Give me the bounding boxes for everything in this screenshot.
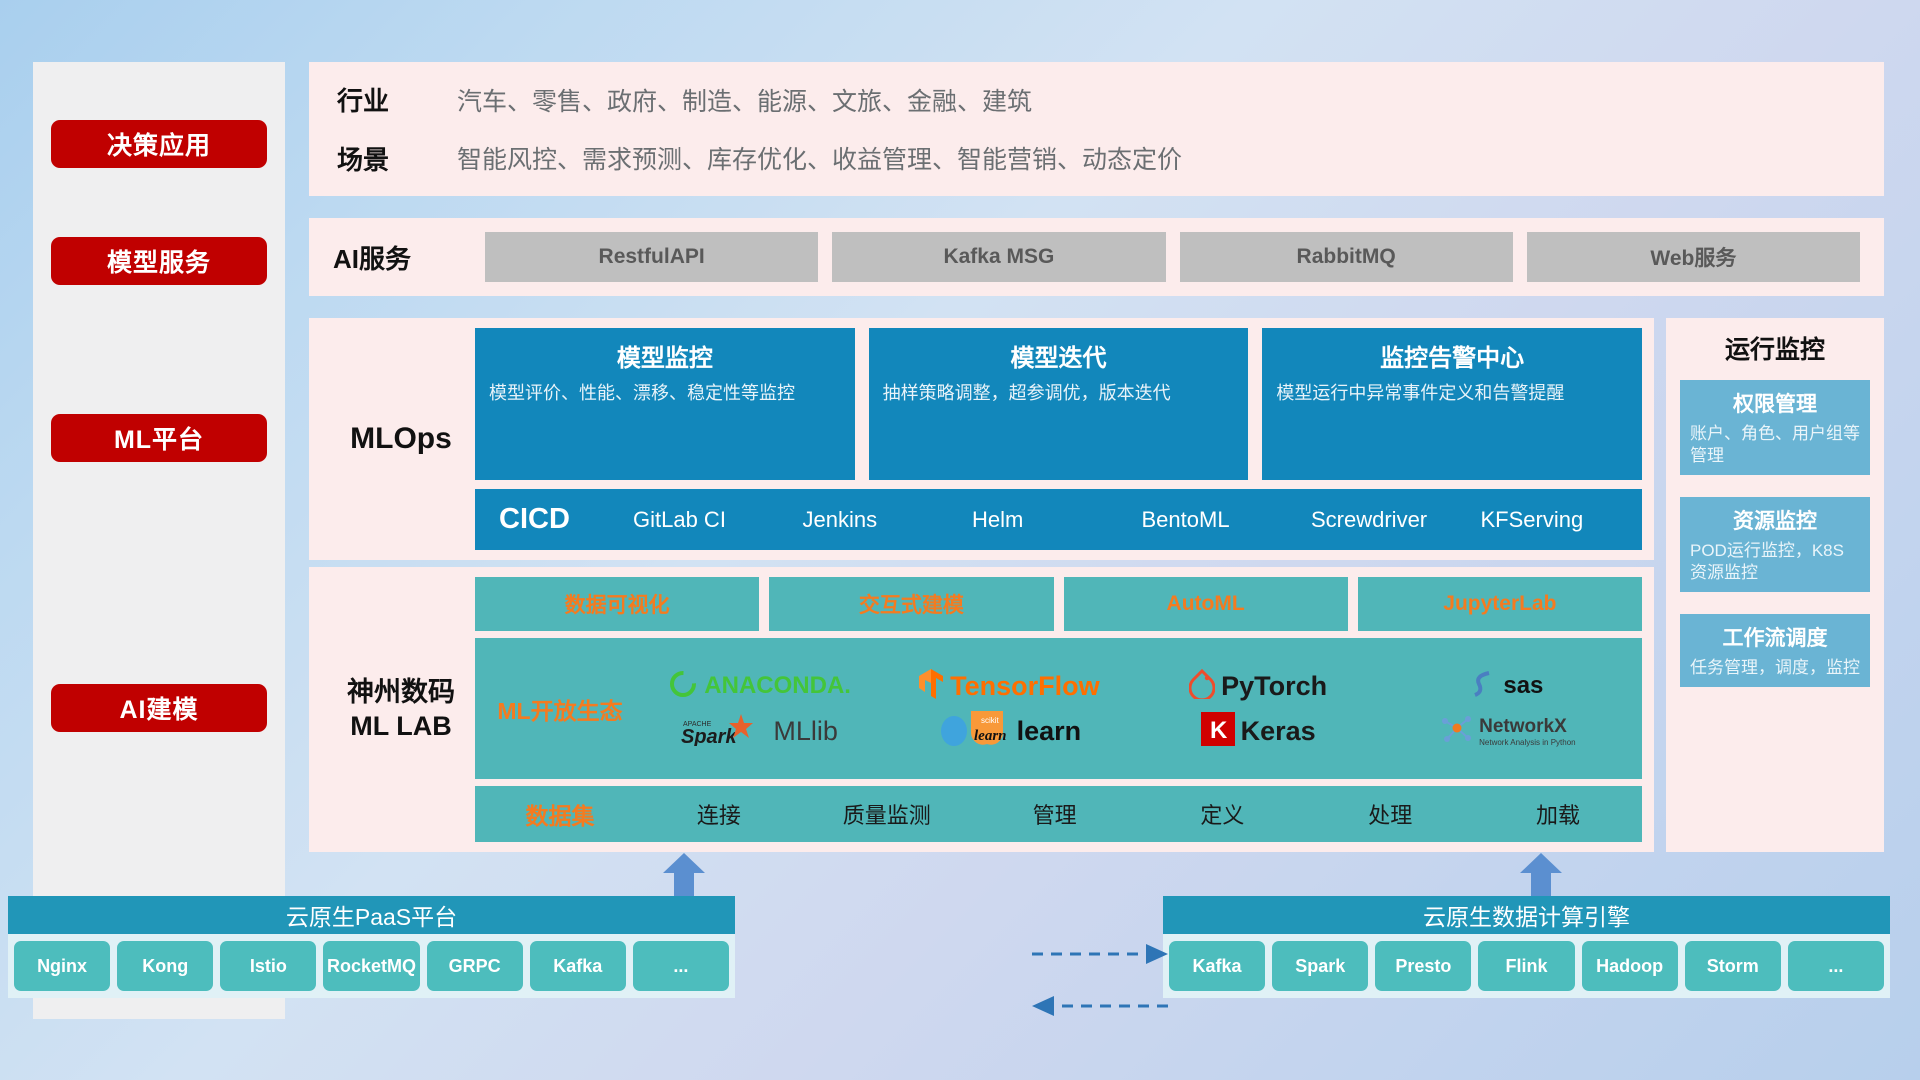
svg-text:Spark: Spark [681,726,737,746]
sas-logo-glyph [1471,669,1497,704]
rail-button-1[interactable]: 模型服务 [51,237,267,285]
cicd-item-5[interactable]: KFServing [1473,505,1643,535]
cloud-paas-chip-list: NginxKongIstioRocketMQGRPCKafka... [8,934,735,998]
networkx-logo: NetworkXNetwork Analysis in Python [1439,713,1576,750]
ml-ecosystem-logos: ANACONDA.TensorFlowPyTorchsasAPACHESpark… [635,664,1632,754]
compute-chip-4[interactable]: Hadoop [1582,941,1678,991]
networkx-logo-tagline: Network Analysis in Python [1479,738,1576,747]
monitoring-card-title: 权限管理 [1690,388,1860,418]
scenario-value: 智能风控、需求预测、库存优化、收益管理、智能营销、动态定价 [457,140,1182,176]
paas-chip-6[interactable]: ... [633,941,729,991]
svg-text:learn: learn [974,728,1007,744]
svg-text:K: K [1210,717,1228,744]
monitoring-card-title: 工作流调度 [1690,622,1860,652]
industry-label: 行业 [337,81,457,118]
ai-service-box-0[interactable]: RestfulAPI [485,232,818,282]
spark-mllib-logo-wordmark: MLlib [773,716,838,746]
ai-service-box-1[interactable]: Kafka MSG [832,232,1165,282]
cloud-paas-block: 云原生PaaS平台 NginxKongIstioRocketMQGRPCKafk… [8,896,735,998]
cicd-item-3[interactable]: BentoML [1134,505,1304,535]
mlops-card-0[interactable]: 模型监控模型评价、性能、漂移、稳定性等监控 [475,328,855,480]
compute-chip-6[interactable]: ... [1788,941,1884,991]
ml-lab-title-line2: ML LAB [327,710,475,744]
tensorflow-logo: TensorFlow [918,668,1100,705]
cicd-item-list: GitLab CIJenkinsHelmBentoMLScrewdriverKF… [625,505,1642,535]
sas-logo: sas [1471,669,1543,704]
dataset-item-list: 连接质量监测管理定义处理加载 [635,798,1642,830]
monitoring-title: 运行监控 [1680,330,1870,366]
cicd-item-1[interactable]: Jenkins [795,505,965,535]
paas-chip-2[interactable]: Istio [220,941,316,991]
ml-ecosystem-band: ML开放生态 ANACONDA.TensorFlowPyTorchsasAPAC… [475,638,1642,779]
rail-button-label: AI建模 [119,690,198,726]
dataset-item-0[interactable]: 连接 [635,798,803,830]
mlops-content: 模型监控模型评价、性能、漂移、稳定性等监控模型迭代抽样策略调整，超参调优，版本迭… [475,328,1642,550]
modelling-tool-2[interactable]: AutoML [1064,577,1348,631]
paas-chip-5[interactable]: Kafka [530,941,626,991]
mlops-card-1[interactable]: 模型迭代抽样策略调整，超参调优，版本迭代 [869,328,1249,480]
mlops-card-list: 模型监控模型评价、性能、漂移、稳定性等监控模型迭代抽样策略调整，超参调优，版本迭… [475,328,1642,480]
ai-modelling-content: 数据可视化交互式建模AutoMLJupyterLab ML开放生态 ANACON… [475,577,1642,842]
scenario-label: 场景 [337,140,457,177]
dataset-label: 数据集 [485,797,635,831]
scikit-learn-logo: scikitlearnlearn [937,709,1082,754]
cloud-compute-block: 云原生数据计算引擎 KafkaSparkPrestoFlinkHadoopSto… [1163,896,1890,998]
up-arrow-left-icon [661,851,707,897]
up-arrow-right-icon [1518,851,1564,897]
rail-button-label: ML平台 [114,420,204,456]
compute-chip-5[interactable]: Storm [1685,941,1781,991]
pytorch-logo-wordmark: PyTorch [1221,671,1327,701]
monitoring-card-1[interactable]: 资源监控POD运行监控，K8S资源监控 [1680,497,1870,592]
ai-service-box-2[interactable]: RabbitMQ [1180,232,1513,282]
compute-chip-1[interactable]: Spark [1272,941,1368,991]
ml-lab-title: 神州数码 ML LAB [327,676,475,744]
cloud-compute-title: 云原生数据计算引擎 [1163,896,1890,934]
scikit-learn-logo-wordmark: learn [1017,716,1082,746]
ai-service-box-3[interactable]: Web服务 [1527,232,1860,282]
spark-mllib-logo-glyph: APACHESpark [681,712,767,751]
compute-chip-0[interactable]: Kafka [1169,941,1265,991]
monitoring-card-title: 资源监控 [1690,505,1860,535]
modelling-tool-list: 数据可视化交互式建模AutoMLJupyterLab [475,577,1642,631]
spark-mllib-logo: APACHESparkMLlib [681,712,838,751]
monitoring-card-desc: 任务管理，调度，监控 [1690,657,1860,679]
paas-chip-4[interactable]: GRPC [427,941,523,991]
pytorch-logo-glyph [1189,669,1215,704]
cloud-paas-title: 云原生PaaS平台 [8,896,735,934]
rail-button-label: 模型服务 [107,243,211,279]
ml-lab-title-line1: 神州数码 [327,676,475,710]
dataset-item-5[interactable]: 加载 [1474,798,1642,830]
mlops-card-desc: 模型评价、性能、漂移、稳定性等监控 [489,381,841,405]
mlops-card-title: 模型监控 [489,338,841,373]
tensorflow-logo-glyph [918,668,944,705]
networkx-logo-glyph [1439,713,1473,750]
monitoring-panel: 运行监控 权限管理账户、角色、用户组等管理资源监控POD运行监控，K8S资源监控… [1666,318,1884,852]
paas-chip-1[interactable]: Kong [117,941,213,991]
modelling-tool-0[interactable]: 数据可视化 [475,577,759,631]
rail-button-label: 决策应用 [107,126,211,162]
paas-chip-0[interactable]: Nginx [14,941,110,991]
anaconda-logo-wordmark: ANACONDA. [704,672,851,699]
compute-chip-2[interactable]: Presto [1375,941,1471,991]
mlops-card-2[interactable]: 监控告警中心模型运行中异常事件定义和告警提醒 [1262,328,1642,480]
networkx-logo-wordmark: NetworkX [1479,716,1567,737]
svg-text:scikit: scikit [981,716,1000,725]
cloud-compute-chip-list: KafkaSparkPrestoFlinkHadoopStorm... [1163,934,1890,998]
rail-button-2[interactable]: ML平台 [51,414,267,462]
monitoring-card-2[interactable]: 工作流调度任务管理，调度，监控 [1680,614,1870,687]
layer-rail: 决策应用模型服务ML平台AI建模云底座 [33,62,285,1019]
cicd-item-0[interactable]: GitLab CI [625,505,795,535]
dataset-item-3[interactable]: 定义 [1138,798,1306,830]
ai-modelling-panel: 神州数码 ML LAB 数据可视化交互式建模AutoMLJupyterLab M… [309,567,1654,852]
dataset-item-4[interactable]: 处理 [1306,798,1474,830]
cicd-item-2[interactable]: Helm [964,505,1134,535]
anaconda-logo: ANACONDA. [668,669,851,704]
cloud-connector-arrows [1030,940,1170,1020]
ml-ecosystem-label: ML开放生态 [485,692,635,726]
keras-logo-glyph: K [1201,712,1235,751]
rail-button-0[interactable]: 决策应用 [51,120,267,168]
cicd-label: CICD [499,503,625,536]
cicd-item-4[interactable]: Screwdriver [1303,505,1473,535]
tensorflow-logo-wordmark: TensorFlow [950,671,1100,701]
ai-services-list: RestfulAPIKafka MSGRabbitMQWeb服务 [485,232,1860,282]
cicd-bar: CICD GitLab CIJenkinsHelmBentoMLScrewdri… [475,489,1642,550]
dataset-item-2[interactable]: 管理 [971,798,1139,830]
mlops-title: MLOps [327,422,475,456]
pytorch-logo: PyTorch [1189,669,1327,704]
mlops-card-title: 模型迭代 [883,338,1235,373]
monitoring-card-desc: 账户、角色、用户组等管理 [1690,423,1860,467]
rail-button-3[interactable]: AI建模 [51,684,267,732]
sas-logo-wordmark: sas [1503,672,1543,699]
mlops-card-desc: 模型运行中异常事件定义和告警提醒 [1276,381,1628,405]
mlops-panel: MLOps 模型监控模型评价、性能、漂移、稳定性等监控模型迭代抽样策略调整，超参… [309,318,1654,560]
monitoring-card-0[interactable]: 权限管理账户、角色、用户组等管理 [1680,380,1870,475]
modelling-tool-3[interactable]: JupyterLab [1358,577,1642,631]
ai-services-panel: AI服务 RestfulAPIKafka MSGRabbitMQWeb服务 [309,218,1884,296]
keras-logo-wordmark: Keras [1241,716,1316,746]
application-value-column: 汽车、零售、政府、制造、能源、文旅、金融、建筑 智能风控、需求预测、库存优化、收… [457,82,1182,176]
ai-services-title: AI服务 [333,239,485,276]
monitoring-card-list: 权限管理账户、角色、用户组等管理资源监控POD运行监控，K8S资源监控工作流调度… [1680,380,1870,687]
modelling-tool-1[interactable]: 交互式建模 [769,577,1053,631]
compute-chip-3[interactable]: Flink [1478,941,1574,991]
application-label-column: 行业 场景 [337,81,457,177]
paas-chip-3[interactable]: RocketMQ [323,941,419,991]
mlops-card-desc: 抽样策略调整，超参调优，版本迭代 [883,381,1235,405]
dataset-bar: 数据集 连接质量监测管理定义处理加载 [475,786,1642,842]
anaconda-logo-glyph [668,669,698,704]
scikit-learn-logo-glyph: scikitlearn [937,709,1011,754]
industry-value: 汽车、零售、政府、制造、能源、文旅、金融、建筑 [457,82,1182,118]
dataset-item-1[interactable]: 质量监测 [803,798,971,830]
mlops-card-title: 监控告警中心 [1276,338,1628,373]
keras-logo: KKeras [1201,712,1316,751]
applications-panel: 行业 场景 汽车、零售、政府、制造、能源、文旅、金融、建筑 智能风控、需求预测、… [309,62,1884,196]
monitoring-card-desc: POD运行监控，K8S资源监控 [1690,540,1860,584]
